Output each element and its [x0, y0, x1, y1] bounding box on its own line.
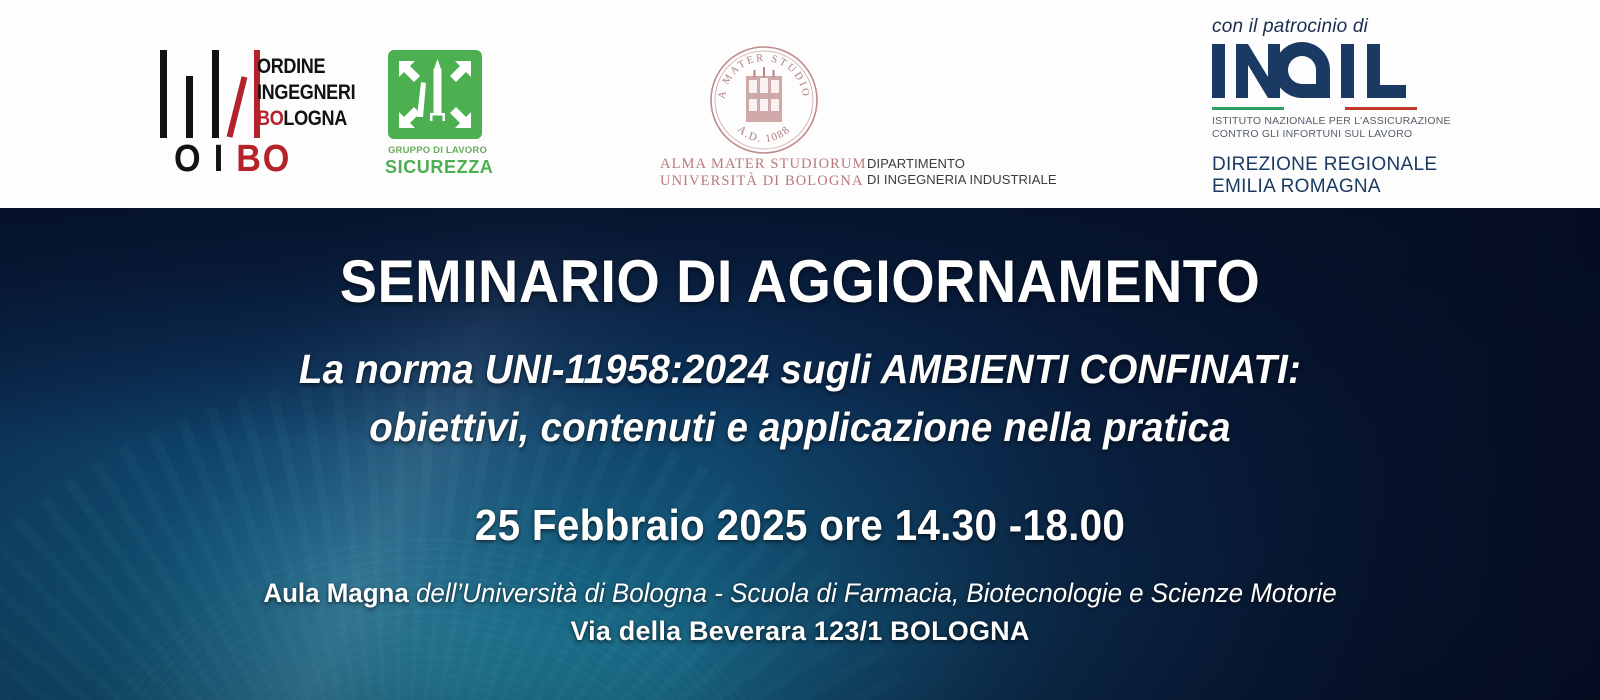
- inail-wordmark-icon: [1210, 40, 1420, 102]
- oibo-line-bologna: BOLOGNA: [257, 106, 355, 132]
- flag-red-segment: [1345, 107, 1417, 110]
- inail-subtitle: ISTITUTO NAZIONALE PER L'ASSICURAZIONE C…: [1212, 115, 1425, 140]
- two-towers-arrows-glyph: [389, 51, 481, 138]
- inail-region-line1: DIREZIONE REGIONALE: [1212, 154, 1425, 176]
- gruppo-di-lavoro-label: GRUPPO DI LAVORO: [385, 145, 490, 156]
- event-address: Via della Beverara 123/1 BOLOGNA: [0, 612, 1600, 650]
- seal-bottom-text: A.D. 1088: [735, 123, 793, 145]
- gruppo-di-lavoro-sicurezza-logo: GRUPPO DI LAVORO SICUREZZA: [385, 47, 490, 182]
- inail-subtitle-line2: CONTRO GLI INFORTUNI SUL LAVORO: [1212, 128, 1425, 141]
- venue-name: Aula Magna: [263, 578, 408, 608]
- universita-di-bologna-logo: ALMA MATER STUDIORUM A.D. 1088 ALMA MATE…: [660, 44, 1050, 189]
- event-title: SEMINARIO DI AGGIORNAMENTO: [56, 250, 1544, 314]
- oibo-wordmark: ORDINE INGEGNERI BOLOGNA: [257, 54, 371, 132]
- flag-green-segment: [1212, 107, 1284, 110]
- unibo-department: DIPARTIMENTO DI INGEGNERIA INDUSTRIALE: [867, 156, 1057, 188]
- event-venue: Aula Magna dell’Università di Bologna - …: [32, 574, 1568, 612]
- hero-section: SEMINARIO DI AGGIORNAMENTO La norma UNI-…: [0, 208, 1600, 700]
- unibo-name: ALMA MATER STUDIORUM UNIVERSITÀ DI BOLOG…: [660, 156, 845, 190]
- event-subtitle-line2: obiettivi, contenuti e applicazione nell…: [48, 398, 1552, 456]
- inail-wordmark: [1210, 40, 1425, 102]
- sicurezza-label: SICUREZZA: [385, 157, 490, 178]
- event-poster: ORDINE INGEGNERI BOLOGNA O I BO: [0, 0, 1600, 700]
- confined-space-safety-sign-icon: [385, 47, 485, 142]
- event-subtitle-line1: La norma UNI-11958:2024 sugli AMBIENTI C…: [48, 340, 1552, 398]
- sicurezza-caption: GRUPPO DI LAVORO SICUREZZA: [385, 145, 490, 178]
- unibo-dept-line2: DI INGEGNERIA INDUSTRIALE: [867, 172, 1057, 188]
- unibo-name-line2: UNIVERSITÀ DI BOLOGNA: [660, 173, 845, 190]
- logo-header-band: ORDINE INGEGNERI BOLOGNA O I BO: [0, 0, 1600, 208]
- unibo-name-line1: ALMA MATER STUDIORUM: [660, 156, 845, 173]
- event-subtitle: La norma UNI-11958:2024 sugli AMBIENTI C…: [48, 340, 1552, 456]
- unibo-dept-line1: DIPARTIMENTO: [867, 156, 1057, 172]
- oibo-line-ordine: ORDINE: [257, 54, 355, 80]
- oibo-abbreviation: O I BO: [174, 138, 291, 180]
- inail-region-line2: EMILIA ROMAGNA: [1212, 176, 1425, 198]
- alma-mater-seal-icon: ALMA MATER STUDIORUM A.D. 1088: [708, 44, 820, 156]
- inail-logo-block: con il patrocinio di ISTITUTO NAZIONALE …: [1210, 16, 1425, 191]
- venue-detail: dell’Università di Bologna - Scuola di F…: [409, 578, 1337, 608]
- event-date-time: 25 Febbraio 2025 ore 14.30 -18.00: [64, 501, 1536, 551]
- italian-flag-rule: [1212, 107, 1417, 111]
- oibo-line-ingegneri: INGEGNERI: [257, 80, 355, 106]
- ordine-ingegneri-bologna-logo: ORDINE INGEGNERI BOLOGNA O I BO: [160, 50, 375, 180]
- patronage-label: con il patrocinio di: [1212, 16, 1425, 38]
- inail-region: DIREZIONE REGIONALE EMILIA ROMAGNA: [1212, 154, 1425, 198]
- inail-subtitle-line1: ISTITUTO NAZIONALE PER L'ASSICURAZIONE: [1212, 115, 1425, 128]
- svg-text:A.D. 1088: A.D. 1088: [735, 123, 793, 145]
